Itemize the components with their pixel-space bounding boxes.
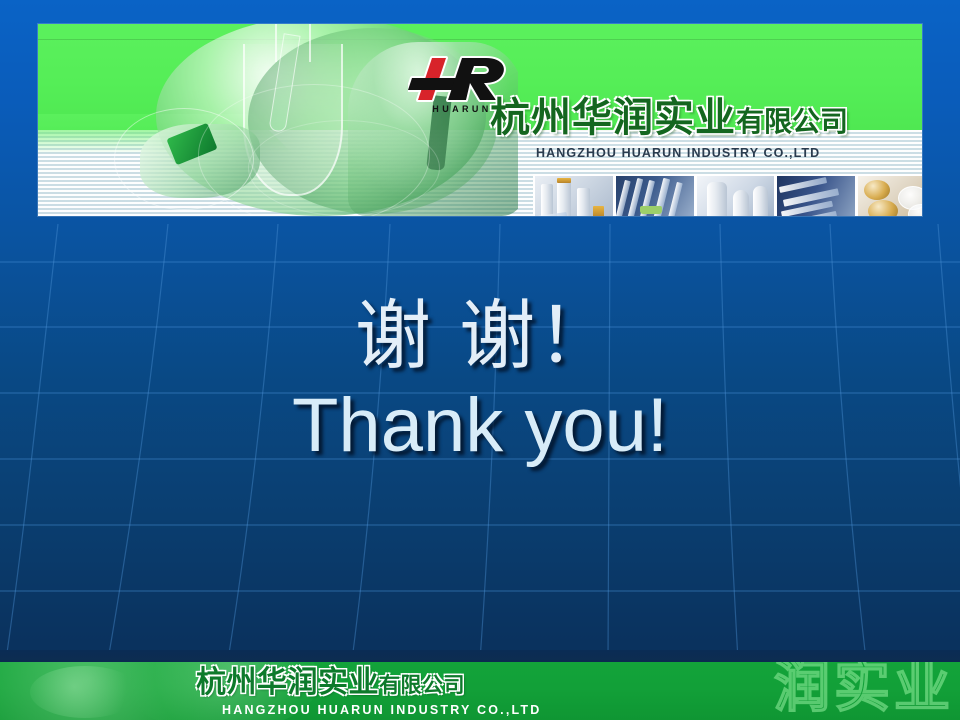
footer-company-name-cn-suffix: 有限公司 xyxy=(379,673,465,697)
thank-you-block: 谢 谢！ Thank you! xyxy=(0,296,960,468)
product-photo-spray-bottles xyxy=(535,176,613,216)
footer-watermark-text: 润实业 xyxy=(774,660,954,716)
banner-company-name-en: HANGZHOU HUARUN INDUSTRY CO.,LTD xyxy=(536,146,820,160)
thanks-english: Thank you! xyxy=(0,383,960,468)
product-photo-prefilled-syringes xyxy=(777,176,855,216)
banner-company-name-cn-suffix: 有限公司 xyxy=(736,105,848,138)
footer-company-name-cn-main: 杭州华润实业 xyxy=(196,665,379,700)
product-photo-plastic-bottles xyxy=(697,176,775,216)
company-banner: HUARUN 杭州华润实业有限公司 HANGZHOU HUARUN INDUST… xyxy=(38,24,922,216)
footer-company-name-en: HANGZHOU HUARUN INDUSTRY CO.,LTD xyxy=(222,703,541,717)
banner-company-name-cn-main: 杭州华润实业 xyxy=(490,95,736,141)
product-photo-strip xyxy=(533,174,922,216)
thanks-chinese: 谢 谢！ xyxy=(0,296,960,377)
product-photo-amber-jars xyxy=(858,176,922,216)
footer-bar: 润实业 杭州华润实业有限公司 HANGZHOU HUARUN INDUSTRY … xyxy=(0,660,960,720)
footer-company-name-cn: 杭州华润实业有限公司 xyxy=(196,668,465,698)
footer-globe-shape xyxy=(30,666,140,718)
slide: HUARUN 杭州华润实业有限公司 HANGZHOU HUARUN INDUST… xyxy=(0,0,960,720)
product-photo-syringes xyxy=(616,176,694,216)
banner-company-name-cn: 杭州华润实业有限公司 xyxy=(490,98,848,138)
decorative-ring-icon xyxy=(248,120,440,216)
